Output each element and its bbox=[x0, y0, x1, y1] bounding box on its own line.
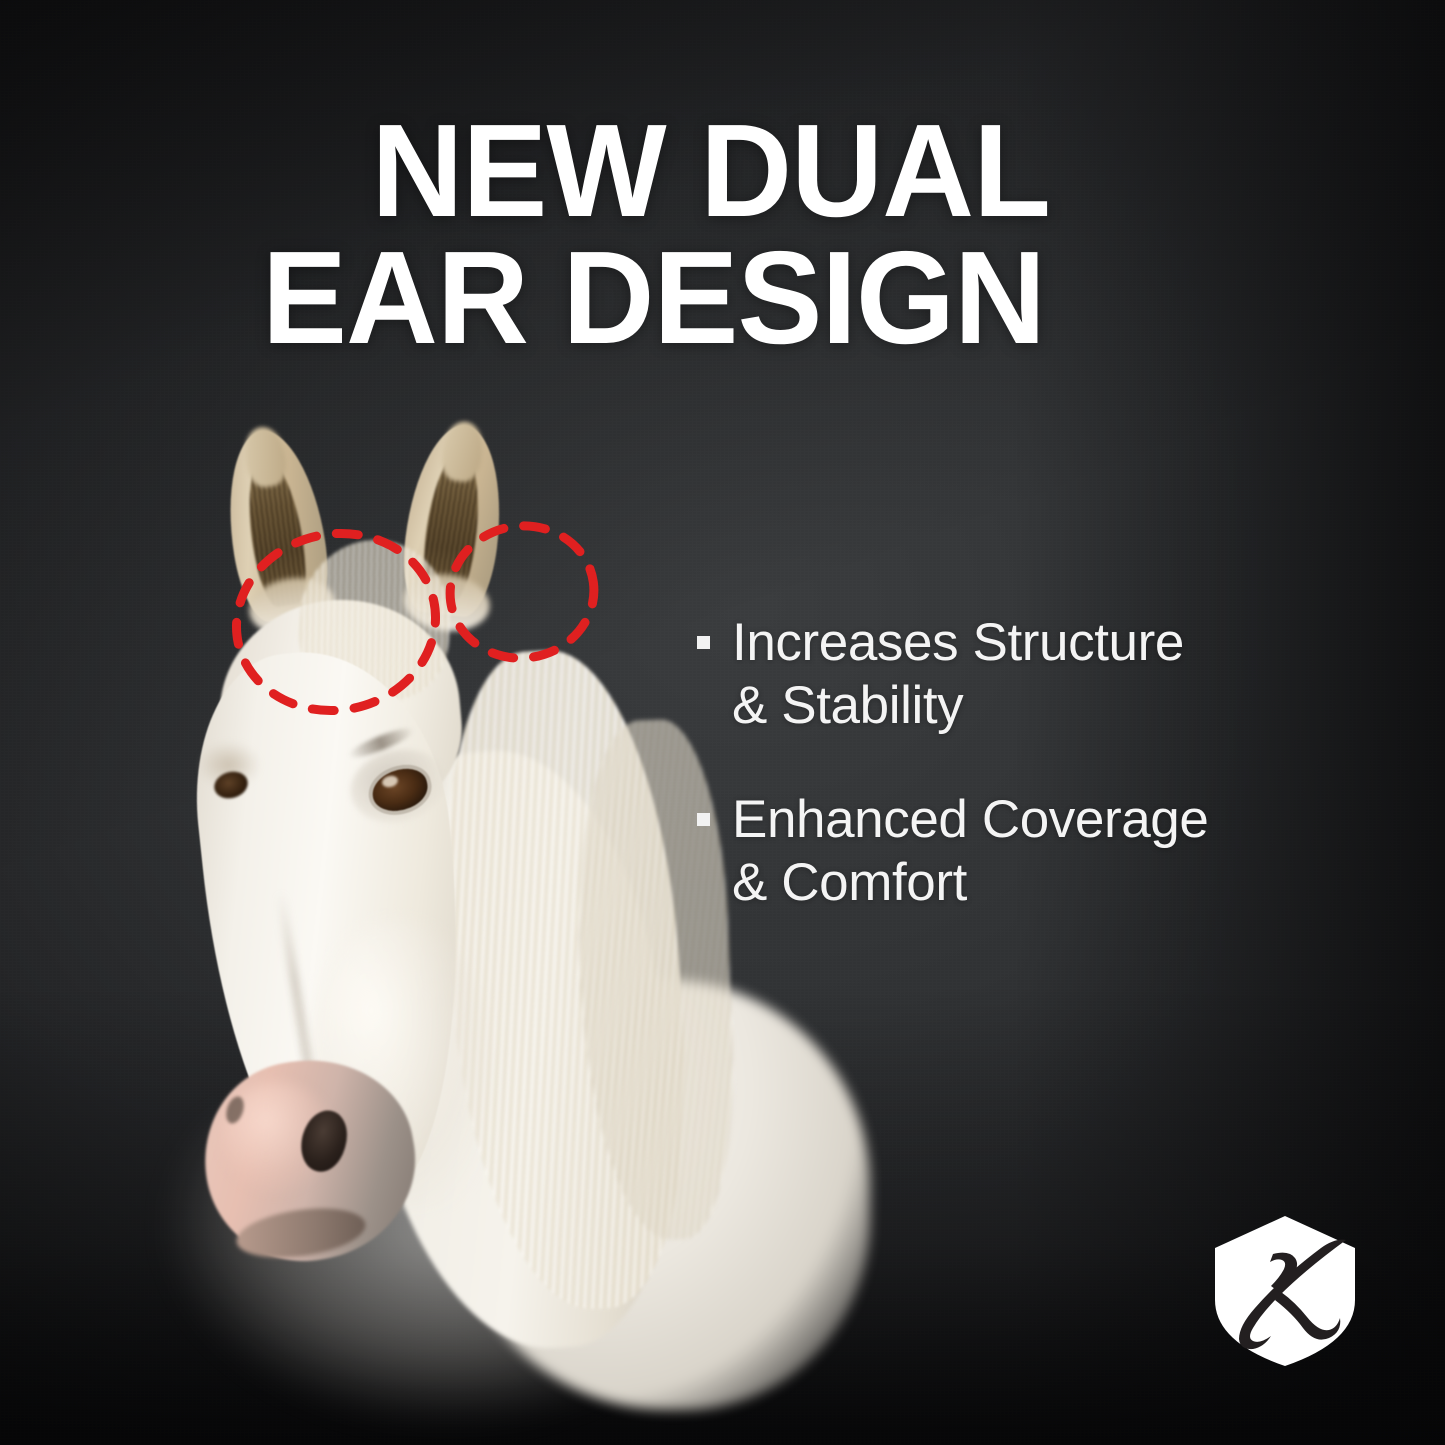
ear-annotation-overlay bbox=[150, 420, 770, 1380]
headline: NEW DUAL EAR DESIGN bbox=[262, 108, 1188, 361]
k-shield-logo bbox=[1209, 1214, 1361, 1368]
promo-graphic: NEW DUAL EAR DESIGN Increases Structure … bbox=[0, 0, 1445, 1445]
annotation-ellipse-left-ear bbox=[220, 515, 452, 729]
headline-line-2: EAR DESIGN bbox=[262, 235, 1188, 362]
feature-text: Enhanced Coverage & Comfort bbox=[732, 789, 1208, 914]
list-item: Increases Structure & Stability bbox=[697, 612, 1377, 737]
square-bullet-icon bbox=[697, 813, 710, 826]
annotation-ellipse-right-ear bbox=[442, 517, 603, 668]
feature-list: Increases Structure & Stability Enhanced… bbox=[697, 612, 1377, 914]
shield-icon bbox=[1215, 1216, 1355, 1366]
feature-text: Increases Structure & Stability bbox=[732, 612, 1184, 737]
list-item: Enhanced Coverage & Comfort bbox=[697, 789, 1377, 914]
square-bullet-icon bbox=[697, 636, 710, 649]
headline-line-1: NEW DUAL bbox=[262, 108, 1188, 235]
